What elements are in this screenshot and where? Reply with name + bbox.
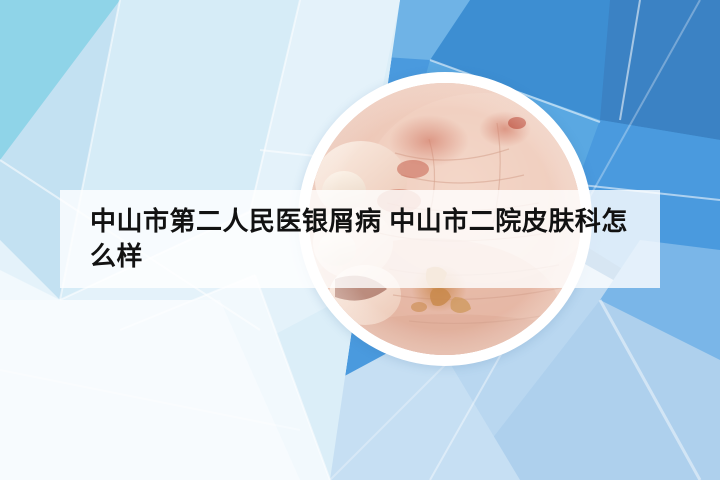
caption-band: 中山市第二人民医银屑病 中山市二院皮肤科怎么样 — [60, 190, 660, 288]
page-title: 中山市第二人民医银屑病 中山市二院皮肤科怎么样 — [90, 204, 638, 274]
banner-image: 中山市第二人民医银屑病 中山市二院皮肤科怎么样 — [0, 0, 720, 480]
